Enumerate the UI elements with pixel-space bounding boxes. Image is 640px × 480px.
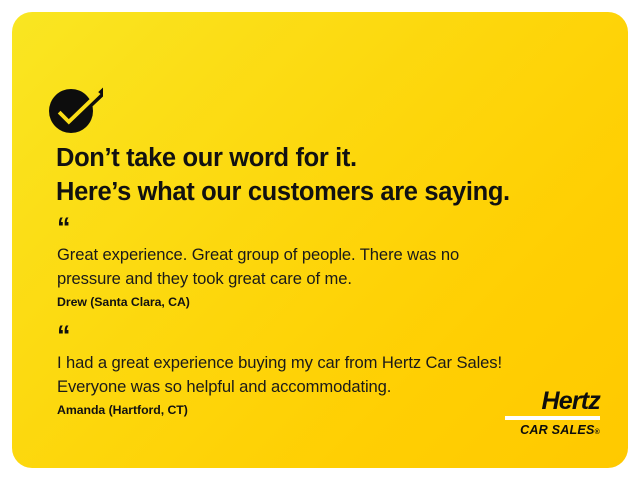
hertz-car-sales-logo: Hertz CAR SALES® — [480, 388, 600, 440]
registered-mark-icon: ® — [595, 429, 600, 436]
testimonial-card: Don’t take our word for it. Here’s what … — [12, 12, 628, 468]
logo-wordmark: Hertz — [480, 388, 600, 414]
testimonial-text: Great experience. Great group of people.… — [57, 243, 607, 290]
testimonial-text-line-1: Great experience. Great group of people.… — [57, 243, 607, 267]
logo-subtitle: CAR SALES® — [480, 423, 600, 440]
testimonial-text-line-1: I had a great experience buying my car f… — [57, 351, 607, 375]
page-title: Don’t take our word for it. Here’s what … — [56, 141, 601, 209]
check-circle-icon — [48, 84, 106, 136]
testimonial-text-line-2: pressure and they took great care of me. — [57, 267, 607, 291]
quote-mark-icon: “ — [57, 329, 607, 346]
testimonial-attribution: Drew (Santa Clara, CA) — [57, 295, 607, 309]
logo-divider — [505, 416, 600, 420]
headline-line-2: Here’s what our customers are saying. — [56, 175, 601, 209]
quote-mark-icon: “ — [57, 221, 607, 238]
testimonial-item: “ Great experience. Great group of peopl… — [57, 221, 607, 309]
headline-line-1: Don’t take our word for it. — [56, 141, 601, 175]
logo-subtitle-text: CAR SALES — [520, 423, 595, 437]
